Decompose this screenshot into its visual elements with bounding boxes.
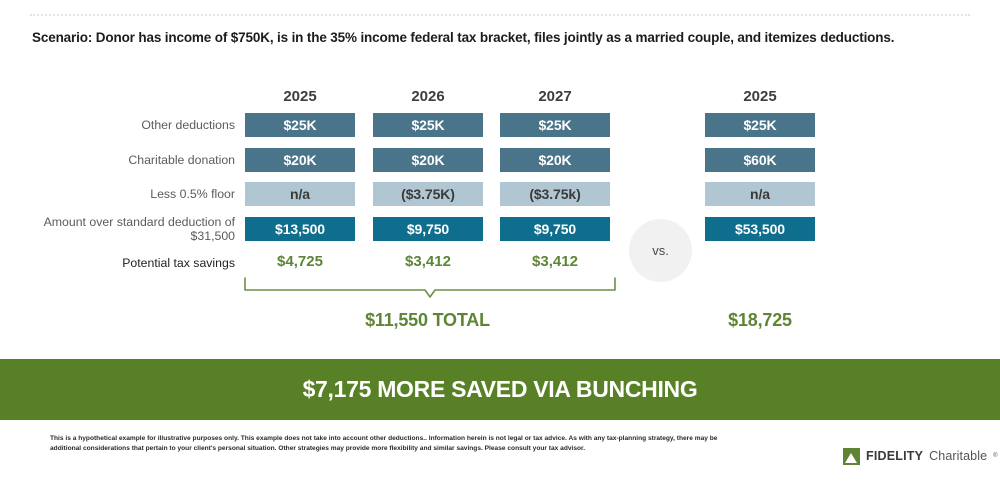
fidelity-pyramid-icon — [843, 448, 860, 465]
cell-2025a-other-deductions: $25K — [245, 113, 355, 137]
cell-2025b-amount-over-standard: $53,500 — [705, 217, 815, 241]
total-brace — [240, 276, 620, 298]
logo-word-charitable: Charitable — [929, 449, 987, 463]
column-header-2025-a: 2025 — [245, 88, 355, 105]
row-label-amount-over-standard: Amount over standard deduction of $31,50… — [35, 215, 235, 243]
total-bunching: $18,725 — [705, 310, 815, 331]
row-label-less-floor: Less 0.5% floor — [35, 187, 235, 201]
cell-2025b-other-deductions: $25K — [705, 113, 815, 137]
row-label-potential-tax-savings: Potential tax savings — [35, 256, 235, 270]
comparison-table: 2025 2026 2027 2025 Other deductions Cha… — [0, 0, 1000, 350]
logo-registered-mark: ® — [993, 453, 997, 459]
total-annual-giving: $11,550 TOTAL — [245, 310, 610, 331]
cell-2027-other-deductions: $25K — [500, 113, 610, 137]
cell-2025b-less-floor: n/a — [705, 182, 815, 206]
cell-2026-charitable-donation: $20K — [373, 148, 483, 172]
cell-2025b-charitable-donation: $60K — [705, 148, 815, 172]
logo-word-fidelity: FIDELITY — [866, 449, 923, 463]
column-header-2025-b: 2025 — [705, 88, 815, 105]
cell-2026-other-deductions: $25K — [373, 113, 483, 137]
fidelity-charitable-logo: FIDELITY Charitable® — [843, 447, 998, 465]
row-label-charitable-donation: Charitable donation — [35, 153, 235, 167]
savings-banner: $7,175 MORE SAVED VIA BUNCHING — [0, 359, 1000, 420]
cell-2027-amount-over-standard: $9,750 — [500, 217, 610, 241]
cell-2025a-charitable-donation: $20K — [245, 148, 355, 172]
disclaimer-text: This is a hypothetical example for illus… — [50, 434, 750, 453]
cell-2026-potential-tax-savings: $3,412 — [373, 253, 483, 270]
cell-2027-less-floor: ($3.75k) — [500, 182, 610, 206]
cell-2027-charitable-donation: $20K — [500, 148, 610, 172]
cell-2025a-less-floor: n/a — [245, 182, 355, 206]
cell-2025a-amount-over-standard: $13,500 — [245, 217, 355, 241]
versus-badge: vs. — [629, 219, 692, 282]
cell-2026-amount-over-standard: $9,750 — [373, 217, 483, 241]
row-label-other-deductions: Other deductions — [35, 118, 235, 132]
cell-2027-potential-tax-savings: $3,412 — [500, 253, 610, 270]
column-header-2027: 2027 — [500, 88, 610, 105]
column-header-2026: 2026 — [373, 88, 483, 105]
cell-2026-less-floor: ($3.75K) — [373, 182, 483, 206]
cell-2025a-potential-tax-savings: $4,725 — [245, 253, 355, 270]
